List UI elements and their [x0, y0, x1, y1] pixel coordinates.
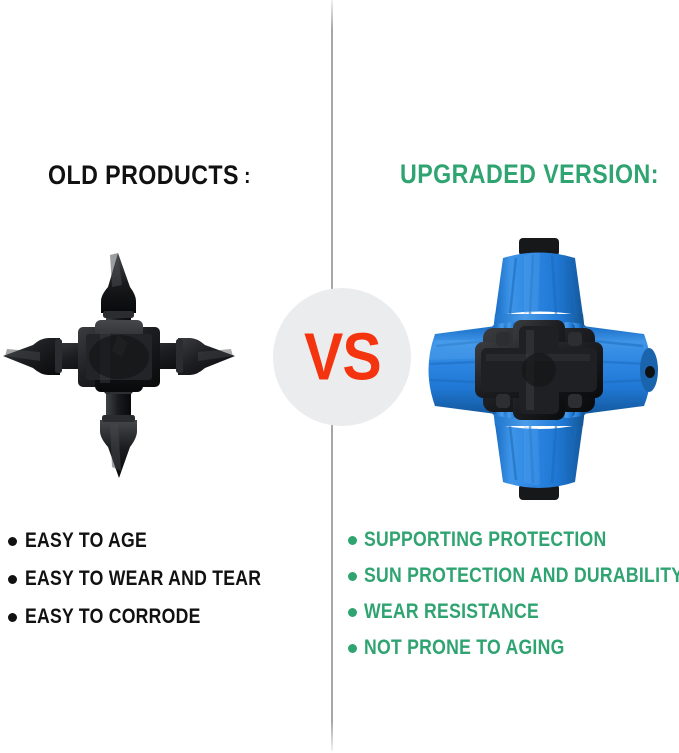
comparison-infographic: OLD PRODUCTS: UPGRADED VERSION:: [0, 0, 679, 753]
list-item: NOT PRONE TO AGING: [348, 630, 679, 666]
upgraded-product-image: [400, 228, 679, 513]
list-item-label: EASY TO WEAR AND TEAR: [25, 567, 261, 591]
bullet-dot-icon: [348, 608, 357, 617]
black-cross-core: [475, 320, 603, 420]
list-item-label: NOT PRONE TO AGING: [364, 636, 565, 660]
bullet-dot-icon: [348, 572, 357, 581]
bullet-dot-icon: [8, 613, 17, 622]
list-item: SUN PROTECTION AND DURABILITY: [348, 558, 679, 594]
list-item-label: EASY TO AGE: [25, 529, 147, 553]
list-item-label: SUPPORTING PROTECTION: [364, 528, 606, 552]
bullet-dot-icon: [348, 536, 357, 545]
old-products-heading-colon: :: [239, 163, 251, 188]
upgraded-version-heading: UPGRADED VERSION:: [400, 159, 659, 190]
list-item: SUPPORTING PROTECTION: [348, 522, 679, 558]
list-item: WEAR RESISTANCE: [348, 594, 679, 630]
blue-compression-cross-connector-icon: [400, 228, 679, 513]
vs-label: VS: [304, 319, 381, 396]
old-product-drawbacks-list: EASY TO AGE EASY TO WEAR AND TEAR EASY T…: [8, 522, 306, 636]
list-item: EASY TO AGE: [8, 522, 306, 560]
upgraded-product-benefits-list: SUPPORTING PROTECTION SUN PROTECTION AND…: [348, 522, 679, 666]
black-cross-connector-icon: [0, 235, 250, 485]
list-item-label: SUN PROTECTION AND DURABILITY: [364, 564, 679, 588]
old-products-heading-text: OLD PRODUCTS: [48, 160, 239, 190]
list-item-label: EASY TO CORRODE: [25, 605, 201, 629]
bullet-dot-icon: [348, 644, 357, 653]
list-item-label: WEAR RESISTANCE: [364, 600, 539, 624]
old-product-image: [0, 235, 250, 485]
list-item: EASY TO CORRODE: [8, 598, 306, 636]
list-item: EASY TO WEAR AND TEAR: [8, 560, 306, 598]
bullet-dot-icon: [8, 575, 17, 584]
bullet-dot-icon: [8, 537, 17, 546]
vs-badge: VS: [273, 288, 411, 426]
old-products-heading: OLD PRODUCTS:: [48, 160, 251, 191]
